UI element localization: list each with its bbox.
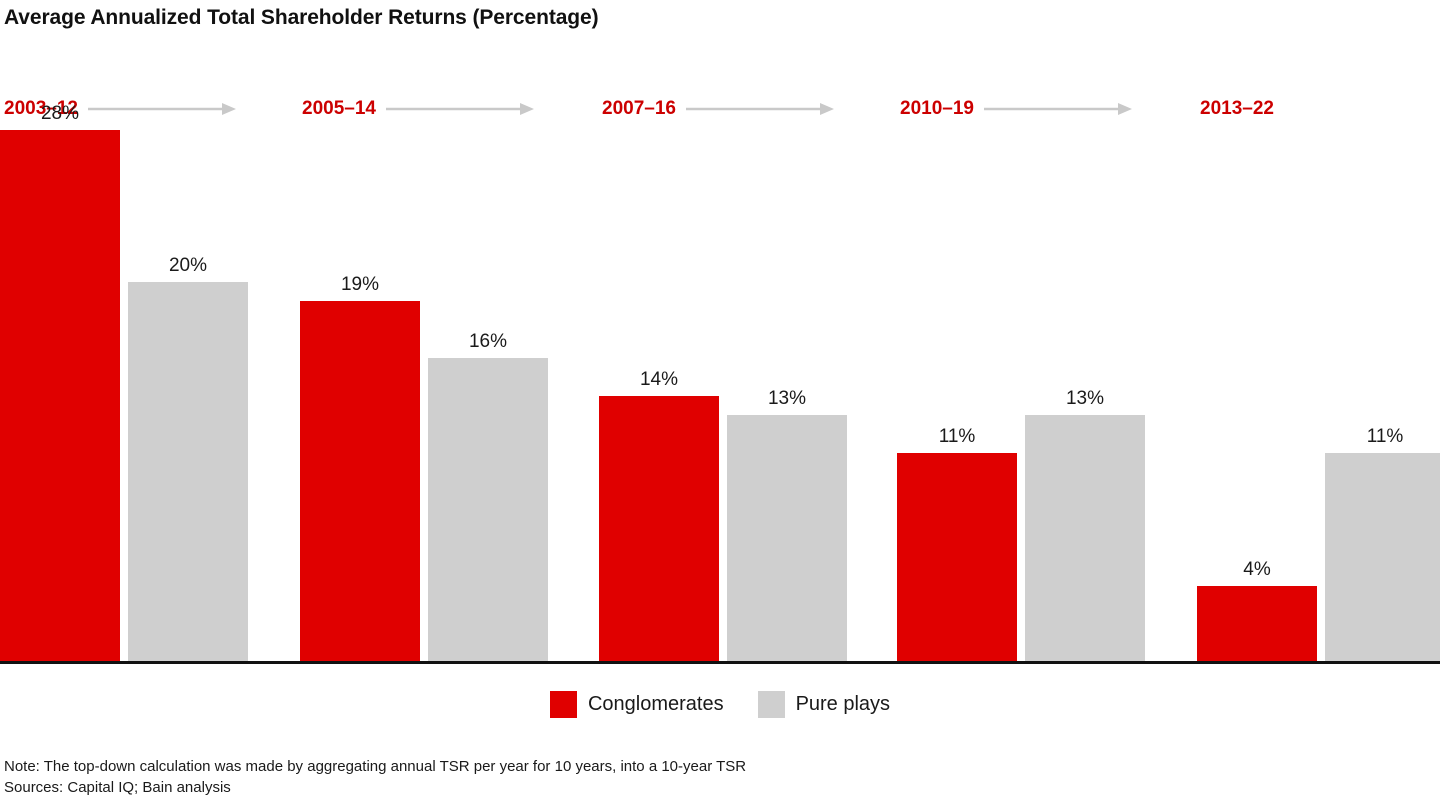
chart-title: Average Annualized Total Shareholder Ret… xyxy=(4,6,599,30)
legend-item-pure-plays[interactable]: Pure plays xyxy=(758,691,891,718)
bar-fill xyxy=(300,301,420,662)
period-group-5: 2013–22 xyxy=(1200,92,1274,126)
bar-group-2010-19: 11% 13% xyxy=(897,130,1147,662)
bar-fill xyxy=(727,415,847,662)
bar-conglomerates-2007-16[interactable]: 14% xyxy=(599,396,719,662)
bar-pure-plays-2010-19[interactable]: 13% xyxy=(1025,415,1145,662)
period-group-2: 2005–14 xyxy=(302,92,534,126)
bar-pure-plays-2013-22[interactable]: 11% xyxy=(1325,453,1440,662)
bar-group-2003-12: 28% 20% xyxy=(0,130,250,662)
x-axis-baseline xyxy=(0,661,1440,664)
footnote-note: Note: The top-down calculation was made … xyxy=(4,756,1434,777)
bar-conglomerates-2010-19[interactable]: 11% xyxy=(897,453,1017,662)
bar-fill xyxy=(0,130,120,662)
period-arrow-icon xyxy=(686,102,834,116)
bar-fill xyxy=(1325,453,1440,662)
bar-value-label: 14% xyxy=(599,369,719,391)
bar-value-label: 16% xyxy=(428,331,548,353)
period-arrow-icon xyxy=(984,102,1132,116)
period-arrow-icon xyxy=(386,102,534,116)
bar-fill xyxy=(897,453,1017,662)
bar-fill xyxy=(428,358,548,662)
period-label-2010-19: 2010–19 xyxy=(900,98,974,120)
bar-group-2007-16: 14% 13% xyxy=(599,130,849,662)
chart-legend: Conglomerates Pure plays xyxy=(0,688,1440,720)
period-label-2013-22: 2013–22 xyxy=(1200,98,1274,120)
period-header-band: 2003–12 2005–14 2007–16 2010–19 2013–22 xyxy=(0,92,1440,126)
bar-conglomerates-2003-12[interactable]: 28% xyxy=(0,130,120,662)
bar-value-label: 20% xyxy=(128,255,248,277)
bar-pure-plays-2003-12[interactable]: 20% xyxy=(128,282,248,662)
legend-swatch-icon xyxy=(550,691,577,718)
period-group-4: 2010–19 xyxy=(900,92,1132,126)
period-label-2005-14: 2005–14 xyxy=(302,98,376,120)
bar-group-2013-22: 4% 11% xyxy=(1197,130,1440,662)
bar-value-label: 19% xyxy=(300,274,420,296)
bar-value-label: 13% xyxy=(727,388,847,410)
bar-chart-plot-area: 28% 20% 19% 16% 14% 13% 11% xyxy=(0,130,1440,662)
footnote-sources: Sources: Capital IQ; Bain analysis xyxy=(4,777,1434,798)
bar-fill xyxy=(599,396,719,662)
bar-fill xyxy=(128,282,248,662)
period-group-3: 2007–16 xyxy=(602,92,834,126)
bar-fill xyxy=(1197,586,1317,662)
legend-swatch-icon xyxy=(758,691,785,718)
bar-pure-plays-2007-16[interactable]: 13% xyxy=(727,415,847,662)
legend-item-conglomerates[interactable]: Conglomerates xyxy=(550,691,724,718)
period-label-2007-16: 2007–16 xyxy=(602,98,676,120)
bar-value-label: 28% xyxy=(0,103,120,125)
bar-pure-plays-2005-14[interactable]: 16% xyxy=(428,358,548,662)
legend-label: Conglomerates xyxy=(588,693,724,716)
bar-value-label: 13% xyxy=(1025,388,1145,410)
bar-value-label: 11% xyxy=(897,426,1017,448)
legend-label: Pure plays xyxy=(796,693,891,716)
bar-fill xyxy=(1025,415,1145,662)
bar-group-2005-14: 19% 16% xyxy=(300,130,550,662)
footnotes: Note: The top-down calculation was made … xyxy=(4,756,1434,798)
bar-conglomerates-2013-22[interactable]: 4% xyxy=(1197,586,1317,662)
bar-conglomerates-2005-14[interactable]: 19% xyxy=(300,301,420,662)
bar-value-label: 4% xyxy=(1197,559,1317,581)
bar-value-label: 11% xyxy=(1325,426,1440,448)
